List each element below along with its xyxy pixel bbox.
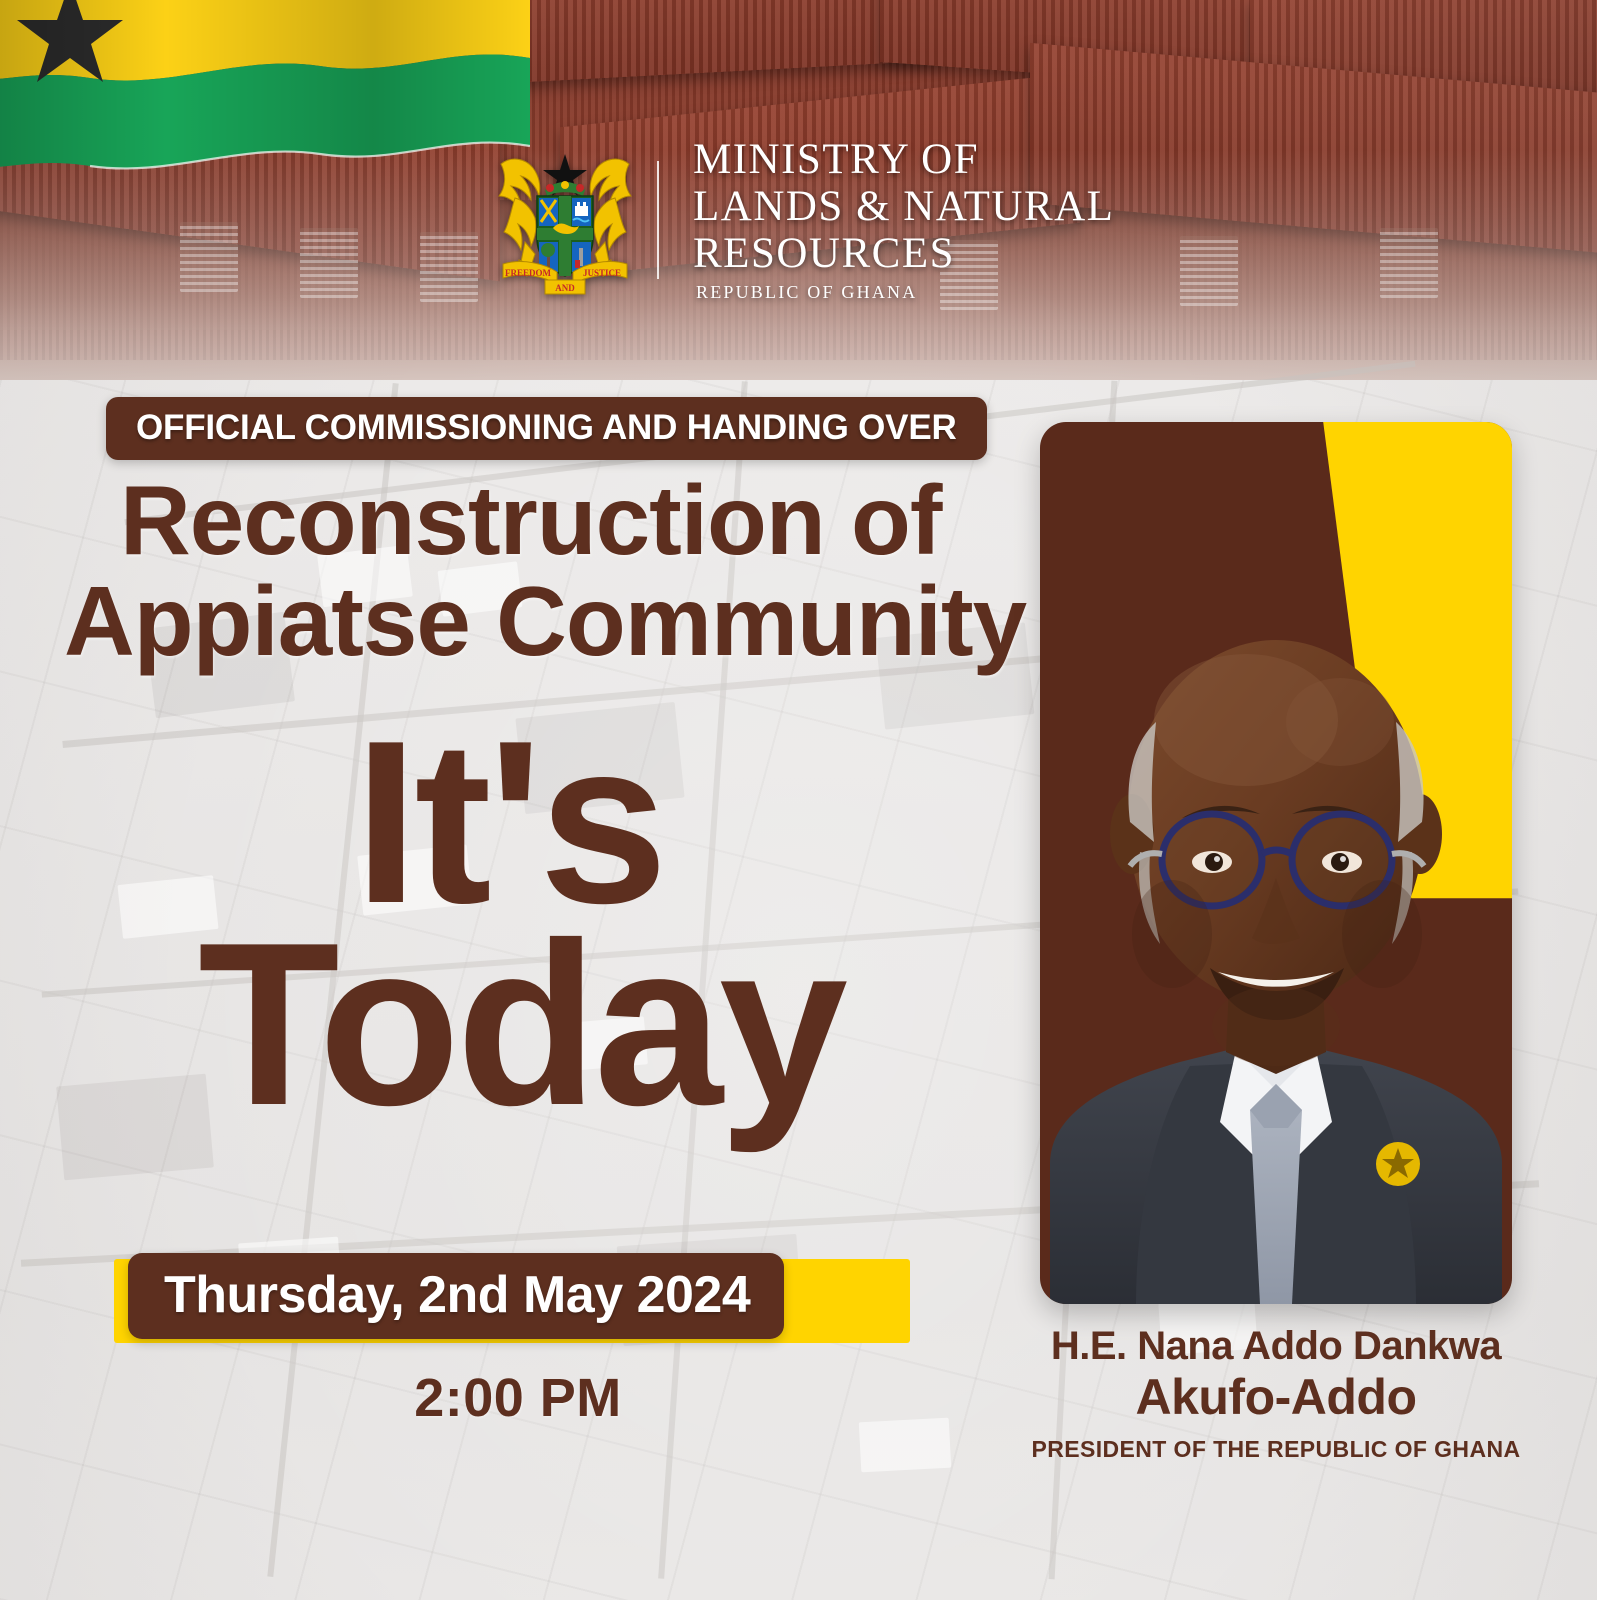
- event-time-label: 2:00 PM: [128, 1367, 908, 1429]
- date-pill: Thursday, 2nd May 2024: [128, 1253, 784, 1339]
- title-line-2: Appiatse Community: [64, 571, 1060, 672]
- event-date-banner: Thursday, 2nd May 2024: [128, 1253, 784, 1339]
- dignitary-name-line-1: H.E. Nana Addo Dankwa: [1000, 1325, 1552, 1368]
- ghana-flag-icon: [0, 0, 530, 200]
- ministry-title-line-3: RESOURCES: [693, 232, 1114, 275]
- event-date-label: Thursday, 2nd May 2024: [164, 1269, 750, 1321]
- ministry-title-block: MINISTRY OF LANDS & NATURAL RESOURCES RE…: [693, 138, 1114, 301]
- event-type-label: OFFICIAL COMMISSIONING AND HANDING OVER: [136, 410, 957, 445]
- ghana-coat-of-arms-icon: FREEDOM JUSTICE AND: [495, 142, 635, 297]
- ministry-subtitle: REPUBLIC OF GHANA: [693, 283, 1114, 301]
- page-title: Reconstruction of Appiatse Community: [120, 470, 1060, 672]
- poster-canvas: FREEDOM JUSTICE AND MINISTRY OF LANDS & …: [0, 0, 1597, 1600]
- highlight-line-1: It's: [354, 722, 1030, 924]
- dignitary-name-line-2: Akufo-Addo: [1000, 1370, 1552, 1424]
- logo-divider: [657, 161, 659, 279]
- ministry-title-line-1: MINISTRY OF: [693, 138, 1114, 181]
- president-portrait-card: [1040, 422, 1512, 1304]
- svg-text:FREEDOM: FREEDOM: [505, 268, 552, 278]
- title-line-1: Reconstruction of: [120, 470, 1060, 571]
- highlight-headline: It's Today It's Today: [170, 722, 1030, 1126]
- president-portrait: [1040, 422, 1512, 1304]
- ministry-title-line-2: LANDS & NATURAL: [693, 185, 1114, 228]
- svg-text:JUSTICE: JUSTICE: [583, 268, 621, 278]
- highlight-line-2: Today: [198, 924, 1030, 1126]
- dignitary-caption: H.E. Nana Addo Dankwa Akufo-Addo PRESIDE…: [1000, 1325, 1552, 1463]
- ministry-logo: FREEDOM JUSTICE AND MINISTRY OF LANDS & …: [495, 138, 1114, 301]
- event-type-banner: OFFICIAL COMMISSIONING AND HANDING OVER: [106, 397, 987, 460]
- dignitary-title: PRESIDENT OF THE REPUBLIC OF GHANA: [1000, 1436, 1552, 1463]
- svg-text:AND: AND: [555, 283, 575, 293]
